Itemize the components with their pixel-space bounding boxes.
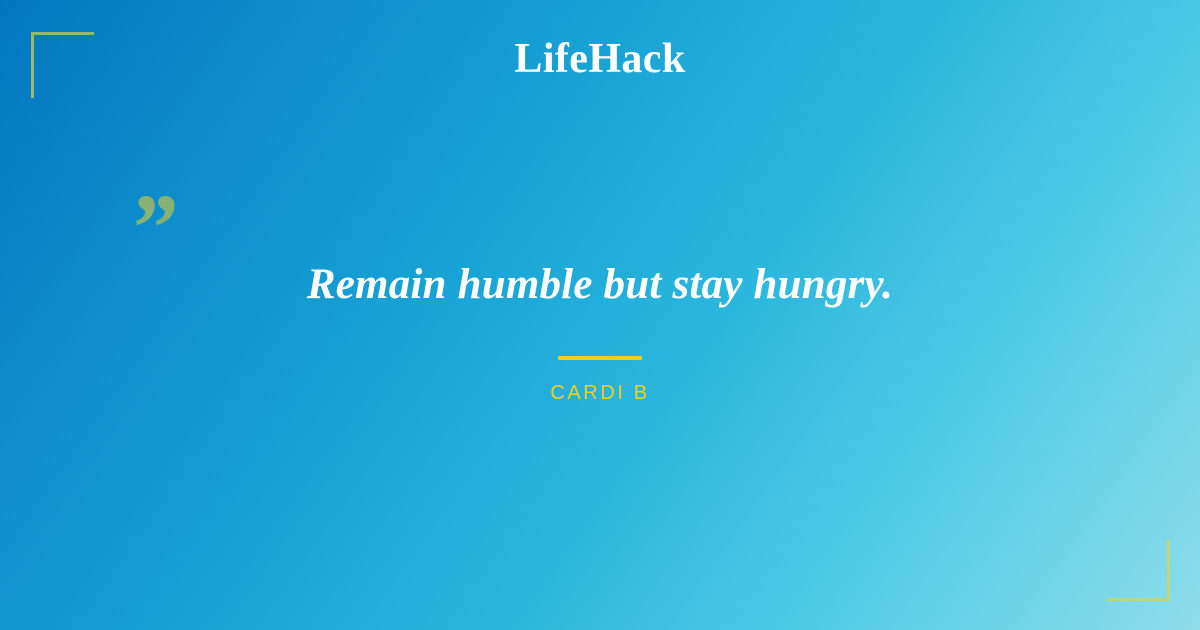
quote-card: ” LifeHack Remain humble but stay hungry… [0, 0, 1200, 630]
brand-logo: LifeHack [0, 36, 1200, 82]
quotation-mark-icon: ” [128, 180, 188, 250]
quote-author: CARDI B [120, 382, 1080, 405]
quote-content: Remain humble but stay hungry. CARDI B [0, 258, 1200, 405]
quote-divider [558, 356, 642, 360]
quote-text: Remain humble but stay hungry. [120, 258, 1080, 312]
corner-bracket-bottom-right-icon [1107, 540, 1170, 601]
